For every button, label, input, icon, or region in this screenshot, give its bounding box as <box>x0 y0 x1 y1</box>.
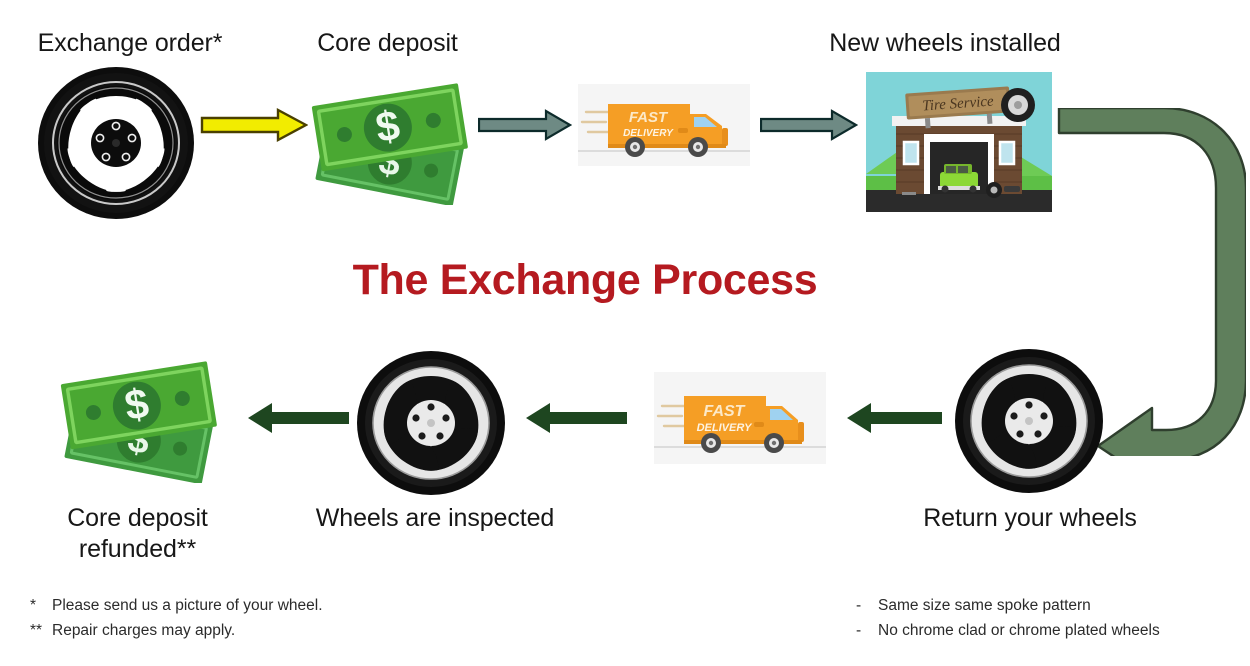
arrow-forest-left-3 <box>246 400 350 436</box>
arrow-slate-right-1 <box>478 108 572 142</box>
delivery-truck-image-bottom: FAST DELIVERY <box>654 372 826 464</box>
footnote-mark: - <box>856 593 878 618</box>
footnote-text: Repair charges may apply. <box>52 622 235 639</box>
footnotes-left: *Please send us a picture of your wheel.… <box>30 593 323 643</box>
exchange-process-diagram: Exchange order* <box>0 0 1250 666</box>
footnote-mark: ** <box>30 618 52 643</box>
silver-alloy-wheel-icon-return <box>954 348 1104 494</box>
label-core-deposit: Core deposit <box>300 28 475 59</box>
footnote-right-2: -No chrome clad or chrome plated wheels <box>856 618 1160 643</box>
label-exchange-order: Exchange order* <box>0 28 260 59</box>
label-core-deposit-refunded: Core deposit refunded** <box>10 503 265 564</box>
footnote-left-1: *Please send us a picture of your wheel. <box>30 593 323 618</box>
page-title: The Exchange Process <box>275 256 895 305</box>
footnote-mark: * <box>30 593 52 618</box>
delivery-truck-image-top: FAST DELIVERY <box>578 84 750 166</box>
svg-text:DELIVERY: DELIVERY <box>623 128 674 139</box>
black-alloy-wheel-icon <box>36 66 196 221</box>
refund-line-2: refunded** <box>79 535 196 563</box>
tire-service-shop-image: Tire Service <box>866 72 1052 212</box>
label-new-wheels-installed: New wheels installed <box>800 28 1090 59</box>
footnote-text: Please send us a picture of your wheel. <box>52 597 323 614</box>
footnote-text: Same size same spoke pattern <box>878 597 1091 614</box>
arrow-forest-left-1 <box>845 400 943 436</box>
money-bills-icon-top: $ $ <box>306 70 478 205</box>
svg-text:DELIVERY: DELIVERY <box>697 422 753 434</box>
arrow-yellow-right <box>200 108 308 142</box>
footnote-left-2: **Repair charges may apply. <box>30 618 323 643</box>
refund-line-1: Core deposit <box>67 504 208 532</box>
footnote-mark: - <box>856 618 878 643</box>
label-return-your-wheels: Return your wheels <box>885 503 1175 534</box>
label-wheels-are-inspected: Wheels are inspected <box>290 503 580 534</box>
arrow-forest-left-2 <box>524 400 628 436</box>
arrow-slate-right-2 <box>760 108 858 142</box>
svg-text:FAST: FAST <box>629 109 669 126</box>
svg-text:FAST: FAST <box>704 403 746 420</box>
footnote-right-1: -Same size same spoke pattern <box>856 593 1160 618</box>
footnotes-right: -Same size same spoke pattern -No chrome… <box>856 593 1160 643</box>
money-bills-icon-bottom: $ $ <box>55 348 227 483</box>
silver-alloy-wheel-icon-inspected <box>356 350 506 496</box>
footnote-text: No chrome clad or chrome plated wheels <box>878 622 1160 639</box>
